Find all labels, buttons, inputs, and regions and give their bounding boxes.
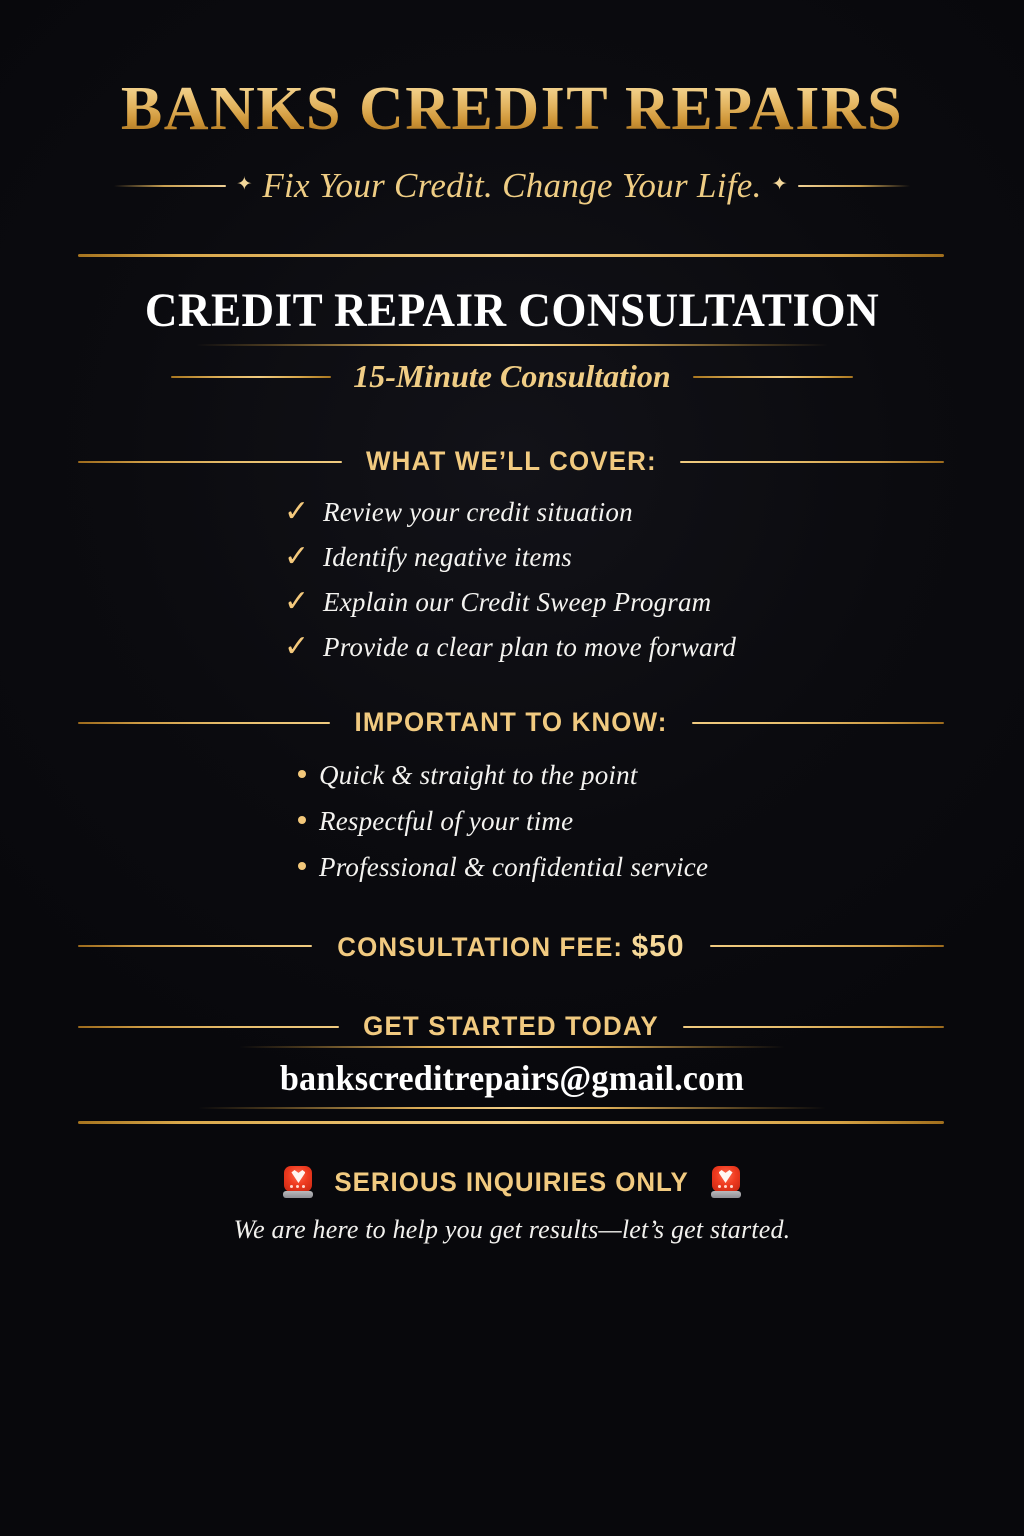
offer-subtitle: 15-Minute Consultation xyxy=(353,358,670,395)
list-item: ✓ Explain our Credit Sweep Program xyxy=(284,587,984,632)
section-rule-right xyxy=(680,461,944,463)
brand-title: BANKS CREDIT REPAIRS xyxy=(0,78,1024,140)
tagline-rule-right xyxy=(798,185,910,187)
bullet-icon xyxy=(298,862,306,870)
tagline-rule-left xyxy=(114,185,226,187)
cover-checklist: ✓ Review your credit situation ✓ Identif… xyxy=(284,497,984,677)
footer-note: We are here to help you get results—let’… xyxy=(0,1215,1024,1245)
list-item-label: Provide a clear plan to move forward xyxy=(323,632,736,663)
sparkle-left-icon: ✦ xyxy=(236,175,252,194)
section-header-important: IMPORTANT TO KNOW: xyxy=(78,707,944,738)
fee-label-group: CONSULTATION FEE: $50 xyxy=(337,928,684,964)
list-item-label: Review your credit situation xyxy=(323,497,633,528)
list-item-label: Explain our Credit Sweep Program xyxy=(323,587,711,618)
cta-label: GET STARTED TODAY xyxy=(363,1011,659,1042)
section-rule-left xyxy=(78,461,342,463)
subtitle-rule-left xyxy=(171,376,331,378)
header-divider xyxy=(78,254,944,257)
offer-title: CREDIT REPAIR CONSULTATION xyxy=(31,283,994,338)
section-label-cover: WHAT WE’LL COVER: xyxy=(366,446,657,477)
bullet-icon xyxy=(298,770,306,778)
list-item-label: Identify negative items xyxy=(323,542,572,573)
list-item: Quick & straight to the point xyxy=(298,760,998,806)
section-label-important: IMPORTANT TO KNOW: xyxy=(354,707,667,738)
list-item: ✓ Provide a clear plan to move forward xyxy=(284,632,984,677)
bullet-icon xyxy=(298,816,306,824)
list-item-label: Respectful of your time xyxy=(319,806,573,837)
section-header-cta: GET STARTED TODAY xyxy=(78,1011,944,1042)
fee-amount: $50 xyxy=(632,928,685,963)
offer-title-underline xyxy=(196,344,828,346)
email-rule-bottom xyxy=(198,1107,826,1109)
fee-rule-right xyxy=(710,945,944,947)
offer-subtitle-row: 15-Minute Consultation xyxy=(0,358,1024,395)
footer-headline-row: SERIOUS INQUIRIES ONLY xyxy=(0,1166,1024,1198)
important-bullet-list: Quick & straight to the point Respectful… xyxy=(298,760,998,898)
list-item: ✓ Review your credit situation xyxy=(284,497,984,542)
list-item: Respectful of your time xyxy=(298,806,998,852)
brand-tagline-row: ✦ Fix Your Credit. Change Your Life. ✦ xyxy=(0,166,1024,206)
subtitle-rule-right xyxy=(693,376,853,378)
list-item-label: Quick & straight to the point xyxy=(319,760,638,791)
fee-label: CONSULTATION FEE: xyxy=(337,932,623,962)
section-header-cover: WHAT WE’LL COVER: xyxy=(78,446,944,477)
footer-headline: SERIOUS INQUIRIES ONLY xyxy=(335,1167,689,1198)
footer-divider xyxy=(78,1121,944,1124)
check-icon: ✓ xyxy=(284,542,308,572)
cta-rule-right xyxy=(683,1026,944,1028)
check-icon: ✓ xyxy=(284,632,308,662)
section-header-fee: CONSULTATION FEE: $50 xyxy=(78,928,944,964)
police-light-left-icon xyxy=(283,1166,313,1198)
list-item: ✓ Identify negative items xyxy=(284,542,984,587)
cta-rule-left xyxy=(78,1026,339,1028)
check-icon: ✓ xyxy=(284,587,308,617)
check-icon: ✓ xyxy=(284,497,308,527)
police-light-right-icon xyxy=(711,1166,741,1198)
flyer-canvas: BANKS CREDIT REPAIRS ✦ Fix Your Credit. … xyxy=(0,0,1024,1536)
list-item: Professional & confidential service xyxy=(298,852,998,898)
sparkle-right-icon: ✦ xyxy=(772,175,788,194)
list-item-label: Professional & confidential service xyxy=(319,852,708,883)
brand-tagline: Fix Your Credit. Change Your Life. xyxy=(262,166,761,206)
section-rule-left xyxy=(78,722,330,724)
fee-rule-left xyxy=(78,945,312,947)
contact-email[interactable]: bankscreditrepairs@gmail.com xyxy=(26,1057,999,1099)
email-rule-top xyxy=(240,1046,784,1048)
section-rule-right xyxy=(692,722,944,724)
